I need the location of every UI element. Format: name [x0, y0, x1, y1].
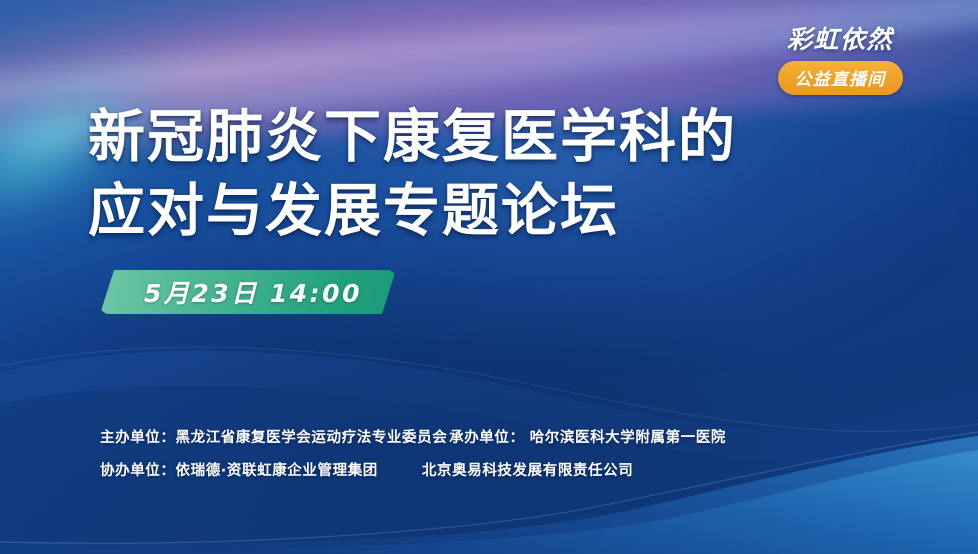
host-unit-value: 黑龙江省康复医学会运动疗法专业委员会 [176, 426, 448, 447]
event-datetime-text: 5月23日 14:00 [144, 274, 362, 310]
coorganizer-unit-label: 协办单位： [100, 459, 176, 480]
page-title: 新冠肺炎下康复医学科的 应对与发展专题论坛 [88, 100, 737, 248]
credits-row-organizers: 主办单位： 黑龙江省康复医学会运动疗法专业委员会 承办单位： 哈尔滨医科大学附属… [100, 426, 938, 447]
event-poster: 彩虹依然 公益直播间 新冠肺炎下康复医学科的 应对与发展专题论坛 5月23日 1… [0, 0, 978, 554]
organizer-unit-label: 承办单位： [449, 430, 525, 446]
host-unit-label: 主办单位： [100, 426, 176, 447]
coorganizer-unit-value-1: 依瑞德·资联虹康企业管理集团 [176, 459, 378, 480]
brand-name: 彩虹依然 [750, 26, 930, 54]
organizer-unit-value: 哈尔滨医科大学附属第一医院 [530, 430, 726, 446]
title-line-2: 应对与发展专题论坛 [88, 174, 737, 248]
coorganizer-unit-value-2: 北京奥易科技发展有限责任公司 [422, 459, 633, 480]
credits-block: 主办单位： 黑龙江省康复医学会运动疗法专业委员会 承办单位： 哈尔滨医科大学附属… [100, 426, 938, 480]
credits-row-coorganizers: 协办单位： 依瑞德·资联虹康企业管理集团 北京奥易科技发展有限责任公司 [100, 459, 938, 480]
event-date-ribbon: 5月23日 14:00 [100, 270, 396, 314]
live-room-badge[interactable]: 公益直播间 [778, 61, 903, 95]
title-line-1: 新冠肺炎下康复医学科的 [88, 100, 737, 174]
brand-block: 彩虹依然 公益直播间 [750, 26, 930, 95]
